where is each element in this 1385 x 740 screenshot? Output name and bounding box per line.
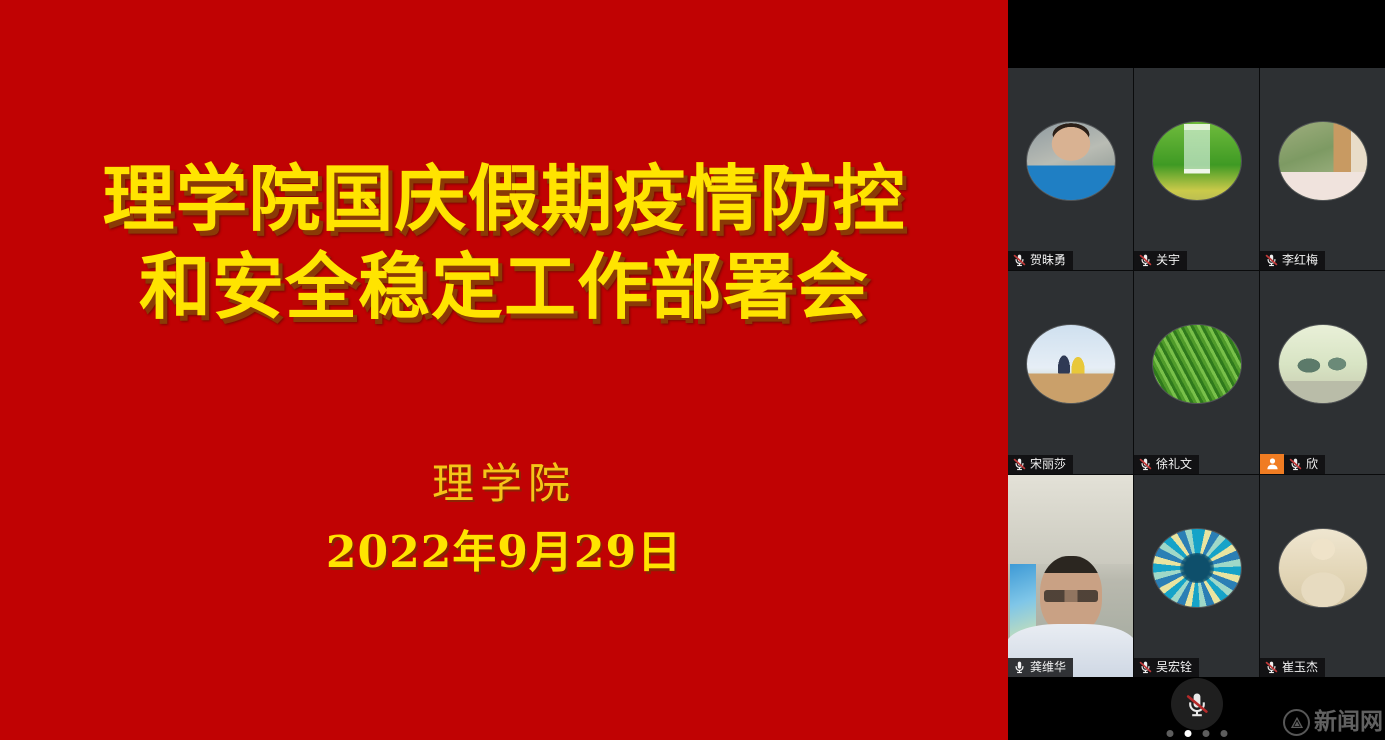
watermark: 新闻网 [1283, 709, 1383, 736]
person-icon [1266, 457, 1279, 470]
page-dot[interactable] [1202, 730, 1209, 737]
avatar-image [1027, 122, 1115, 200]
avatar [1153, 122, 1241, 200]
slide-title: 理学院国庆假期疫情防控 和安全稳定工作部署会 [0, 155, 1008, 331]
microphone-muted-icon [1139, 660, 1152, 674]
participant-tile[interactable]: 贺昧勇 [1008, 68, 1133, 270]
participant-nameplate: 崔玉杰 [1260, 658, 1325, 677]
participant-tile[interactable]: 宋丽莎 [1008, 271, 1133, 473]
microphone-muted-icon [1289, 457, 1302, 471]
university-crest-icon [1283, 709, 1310, 736]
avatar [1027, 122, 1115, 200]
avatar-image [1153, 325, 1241, 403]
participant-tile[interactable]: 徐礼文 [1134, 271, 1259, 473]
participant-name: 吴宏铨 [1156, 660, 1192, 674]
screen-capture: 理学院国庆假期疫情防控 和安全稳定工作部署会 理学院 2022年9月29日 贺昧… [0, 0, 1385, 740]
shared-slide: 理学院国庆假期疫情防控 和安全稳定工作部署会 理学院 2022年9月29日 [0, 0, 1008, 740]
participant-nameplate: 徐礼文 [1134, 455, 1199, 474]
avatar [1279, 529, 1367, 607]
participant-rail: 贺昧勇关宇李红梅宋丽莎徐礼文欣龚维华吴宏铨崔玉杰 [1008, 0, 1385, 740]
watermark-text: 新闻网 [1314, 710, 1383, 735]
participant-nameplate: 李红梅 [1260, 251, 1325, 270]
participant-name: 关宇 [1156, 253, 1180, 267]
avatar-image [1027, 325, 1115, 403]
page-dot[interactable] [1220, 730, 1227, 737]
avatar-image [1153, 122, 1241, 200]
page-dot[interactable] [1184, 730, 1191, 737]
mute-toggle-button[interactable] [1171, 678, 1223, 730]
participant-nameplate: 龚维华 [1008, 658, 1073, 677]
participant-name: 崔玉杰 [1282, 660, 1318, 674]
avatar [1027, 325, 1115, 403]
participant-tile[interactable]: 吴宏铨 [1134, 475, 1259, 677]
slide-date: 2022年9月29日 [0, 524, 1008, 582]
microphone-muted-icon [1265, 253, 1278, 267]
avatar-image [1153, 529, 1241, 607]
page-indicator-dots[interactable] [1166, 730, 1227, 737]
participant-tile-grid: 贺昧勇关宇李红梅宋丽莎徐礼文欣龚维华吴宏铨崔玉杰 [1008, 68, 1385, 677]
microphone-muted-icon [1139, 253, 1152, 267]
microphone-muted-icon [1184, 690, 1210, 718]
participant-nameplate: 吴宏铨 [1134, 658, 1199, 677]
participant-tile[interactable]: 崔玉杰 [1260, 475, 1385, 677]
avatar [1153, 529, 1241, 607]
rail-bottom-bar: 新闻网 [1008, 677, 1385, 740]
video-participant-glasses [1044, 590, 1098, 602]
microphone-muted-icon [1265, 660, 1278, 674]
participant-name: 徐礼文 [1156, 457, 1192, 471]
participant-name: 贺昧勇 [1030, 253, 1066, 267]
page-dot[interactable] [1166, 730, 1173, 737]
participant-tile[interactable]: 李红梅 [1260, 68, 1385, 270]
avatar [1279, 122, 1367, 200]
participant-tile[interactable]: 欣 [1260, 271, 1385, 473]
avatar-image [1279, 325, 1367, 403]
participant-nameplate: 贺昧勇 [1008, 251, 1073, 270]
microphone-muted-icon [1139, 457, 1152, 471]
microphone-muted-icon [1013, 253, 1026, 267]
participant-name: 宋丽莎 [1030, 457, 1066, 471]
participant-name: 李红梅 [1282, 253, 1318, 267]
participant-tile[interactable]: 关宇 [1134, 68, 1259, 270]
host-badge [1260, 454, 1284, 474]
participant-name: 欣 [1306, 457, 1318, 471]
avatar-image [1279, 529, 1367, 607]
participant-tile[interactable]: 龚维华 [1008, 475, 1133, 677]
avatar-image [1279, 122, 1367, 200]
microphone-on-icon [1013, 660, 1026, 674]
slide-organization: 理学院 [0, 458, 1008, 510]
participant-nameplate: 关宇 [1134, 251, 1187, 270]
avatar [1279, 325, 1367, 403]
participant-nameplate: 宋丽莎 [1008, 455, 1073, 474]
participant-name: 龚维华 [1030, 660, 1066, 674]
microphone-muted-icon [1013, 457, 1026, 471]
rail-top-bar [1008, 0, 1385, 68]
avatar [1153, 325, 1241, 403]
participant-nameplate: 欣 [1284, 455, 1325, 474]
video-stream [1008, 475, 1133, 677]
video-background-wall [1008, 475, 1133, 564]
